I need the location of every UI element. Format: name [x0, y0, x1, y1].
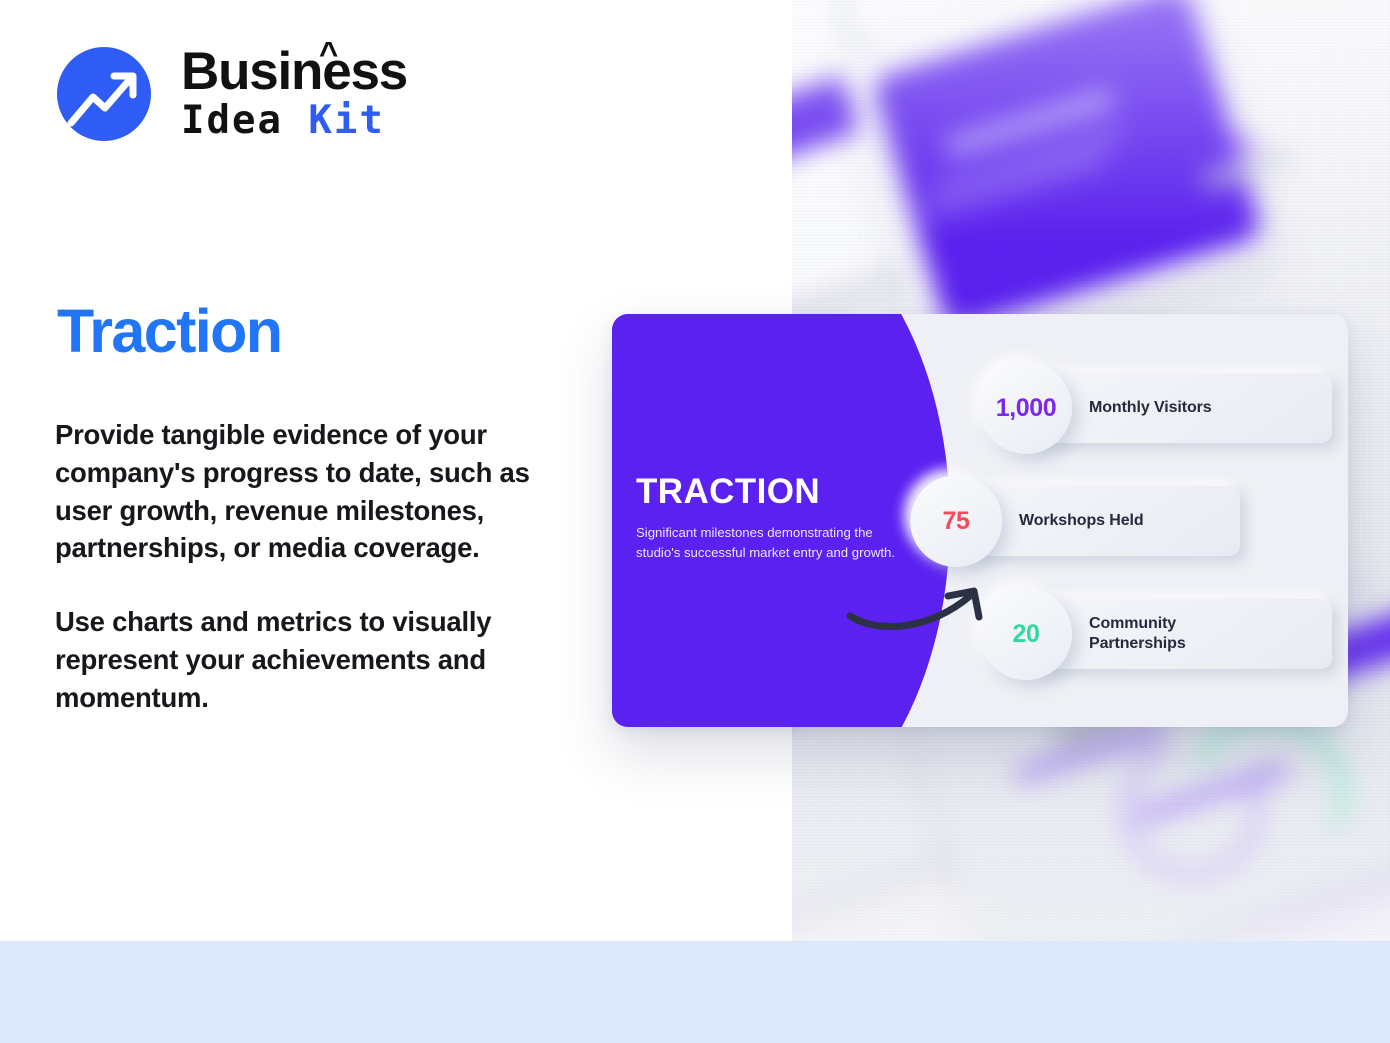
- metric-pill: Monthly Visitors: [1027, 373, 1332, 443]
- page-title: Traction: [57, 296, 281, 366]
- metric-value: 20: [1012, 620, 1039, 649]
- slide-preview-page: Business ^ Idea Kit Traction Provide tan…: [0, 0, 1390, 1043]
- description-paragraph-1: Provide tangible evidence of your compan…: [55, 416, 570, 567]
- brand-line-2: Idea Kit: [181, 100, 407, 141]
- metric-circle: 1,000: [980, 362, 1072, 454]
- metric-value: 75: [942, 507, 969, 536]
- brand-wordmark: Business ^ Idea Kit: [181, 47, 407, 141]
- description-block: Provide tangible evidence of your compan…: [55, 416, 570, 717]
- brand-line-2-dark: Idea: [181, 98, 308, 143]
- metric-label: Community Partnerships: [1089, 614, 1186, 653]
- metric-label: Monthly Visitors: [1089, 398, 1212, 418]
- metric-value: 1,000: [996, 394, 1057, 423]
- slide-subtitle: Significant milestones demonstrating the…: [636, 523, 898, 564]
- description-paragraph-2: Use charts and metrics to visually repre…: [55, 603, 570, 716]
- brand-circumflex-accent: ^: [319, 38, 337, 70]
- metric-label: Workshops Held: [1019, 511, 1144, 531]
- metric-pill: Community Partnerships: [1027, 599, 1332, 669]
- slide-copy-block: TRACTION Significant milestones demonstr…: [636, 474, 898, 564]
- footer-band: [0, 941, 1390, 1043]
- brand-line-1-text: Business: [181, 42, 407, 101]
- brand-logo: Business ^ Idea Kit: [57, 47, 407, 141]
- growth-arrow-icon: [57, 47, 151, 141]
- metric-circle: 75: [910, 475, 1002, 567]
- brand-line-1: Business ^: [181, 47, 407, 98]
- traction-slide-card[interactable]: TRACTION Significant milestones demonstr…: [612, 314, 1348, 727]
- curved-growth-arrow-icon: [844, 572, 1014, 647]
- slide-title: TRACTION: [636, 474, 898, 509]
- metrics-list: Monthly Visitors 1,000 Workshops Held 75…: [932, 314, 1332, 727]
- brand-line-2-accent: Kit: [308, 98, 384, 143]
